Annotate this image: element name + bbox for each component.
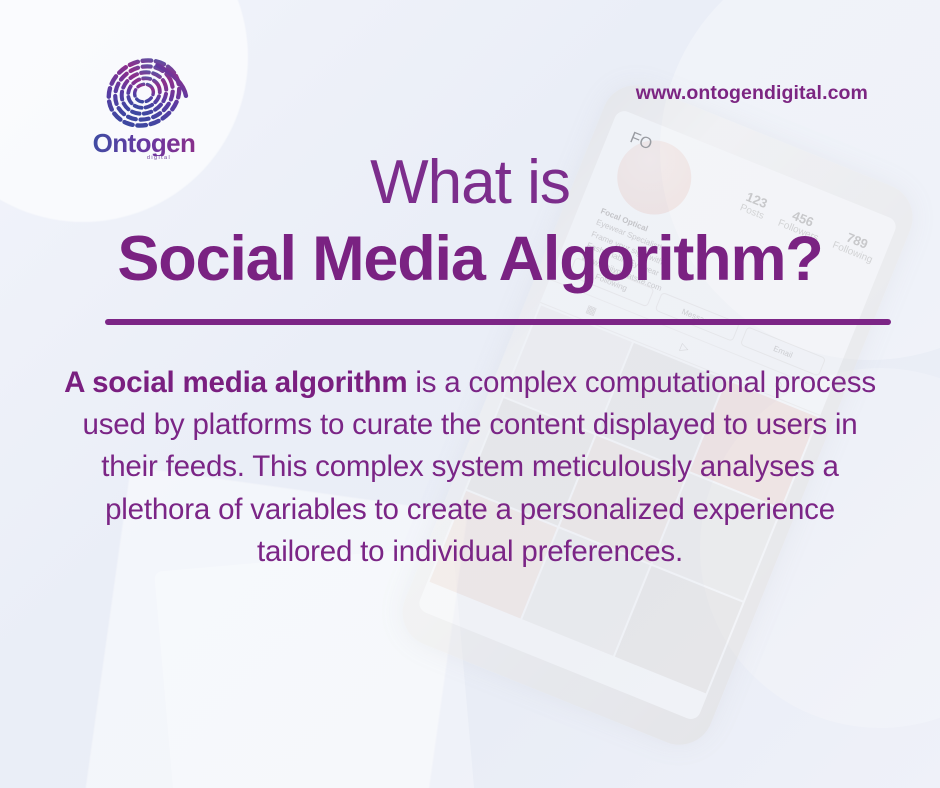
background-card-bottom-left-secondary bbox=[154, 546, 486, 788]
website-url[interactable]: www.ontogendigital.com bbox=[636, 82, 868, 105]
page-title: What is Social Media Algorithm? bbox=[0, 152, 940, 292]
brand-logo: Ontogen digital bbox=[88, 52, 200, 161]
social-media-poster: FO 123 Posts 456 Followers 789 Following bbox=[0, 0, 940, 788]
body-lead: A social media algorithm bbox=[64, 366, 407, 399]
ontogen-globe-icon bbox=[96, 52, 192, 134]
headline-line-2: Social Media Algorithm? bbox=[0, 226, 940, 292]
body-paragraph: A social media algorithm is a complex co… bbox=[60, 362, 880, 573]
divider bbox=[105, 319, 891, 325]
headline-line-1: What is bbox=[0, 152, 940, 214]
